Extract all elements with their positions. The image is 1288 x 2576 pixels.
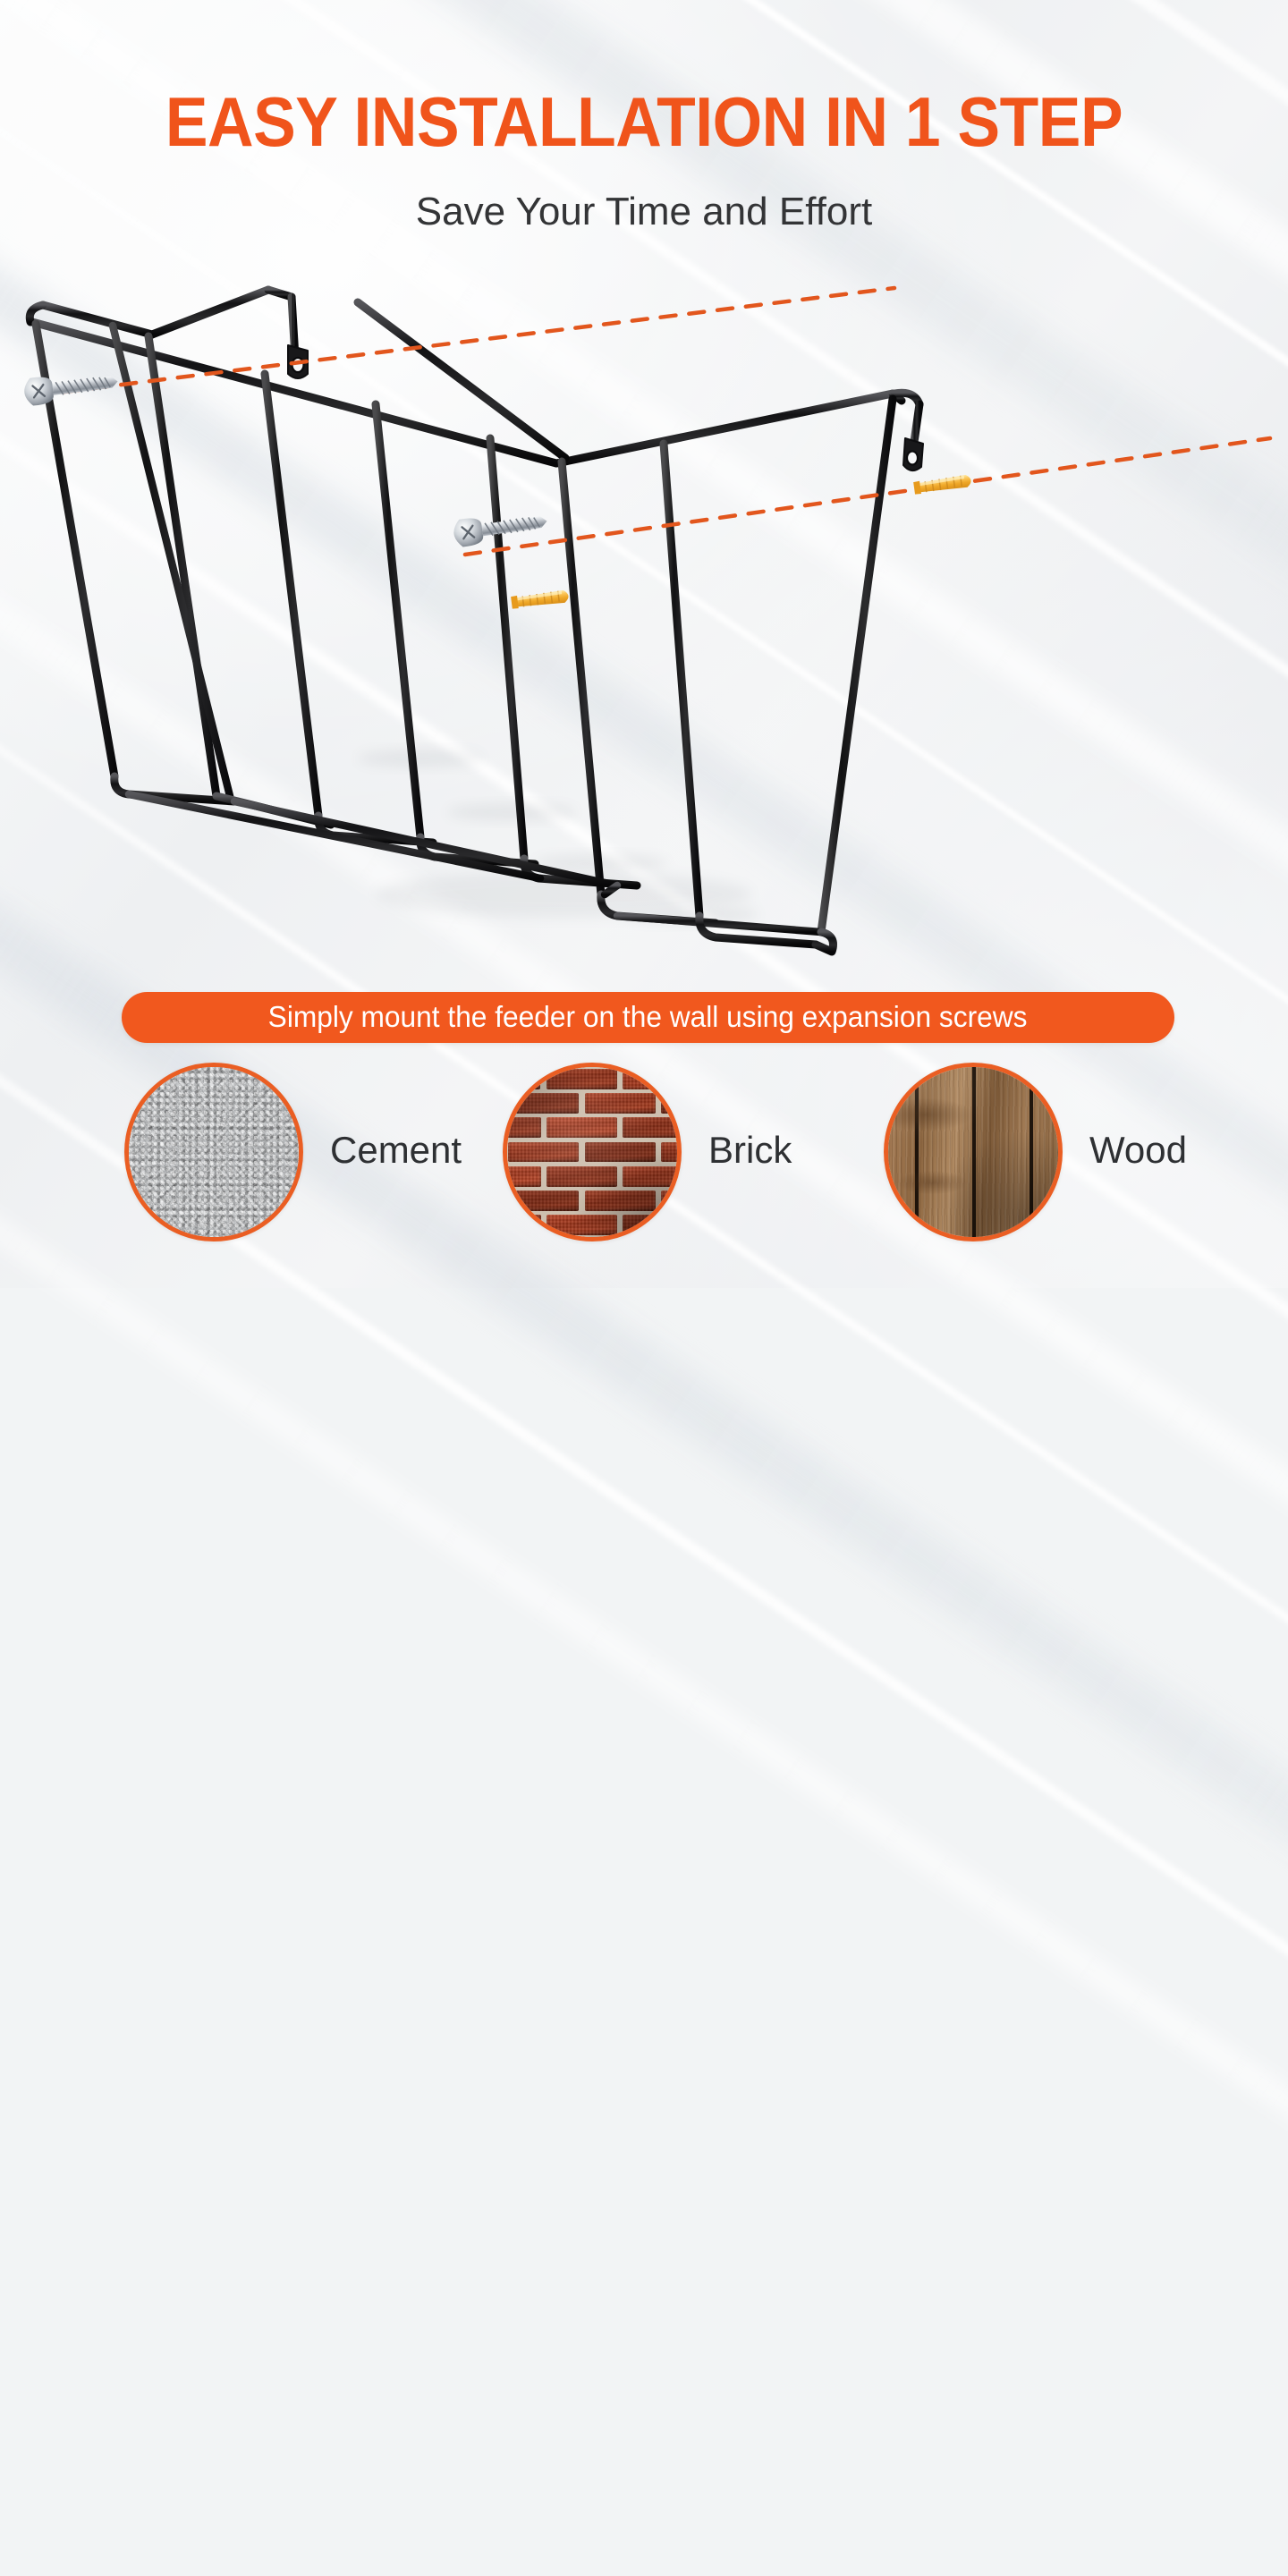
brick-unit [547,1166,617,1187]
page-title: EASY INSTALLATION IN 1 STEP [55,87,1233,157]
brick-unit [508,1191,579,1211]
brick-unit [585,1142,656,1163]
front-top-rail [556,394,893,463]
brick-unit [585,1093,656,1114]
leg-back-2 [148,336,216,796]
anchor-collar [511,596,519,609]
brick-row [503,1067,682,1091]
brick-row [503,1140,682,1164]
wood-texture-swatch [884,1063,1063,1241]
brick-unit [503,1069,540,1089]
brick-row [503,1189,682,1213]
brick-unit [661,1142,682,1163]
brick-unit [503,1117,541,1138]
brick-unit [547,1117,617,1138]
brick-row [503,1213,682,1237]
brick-unit [585,1191,656,1211]
page-subtitle: Save Your Time and Effort [0,191,1288,233]
brick-unit [508,1093,579,1114]
mount-hole-lower [907,452,918,465]
wall-anchor-lower [913,474,971,495]
leg-back-4 [376,404,420,837]
brick-texture-swatch [503,1063,682,1241]
brick-unit [661,1093,682,1114]
wall-anchor-upper [511,589,569,609]
leg-back-5 [490,438,524,859]
leg-front-right-inner [562,462,601,894]
material-chip-cement: Cement [124,1063,462,1241]
brick-row [503,1165,682,1189]
brick-unit [623,1117,682,1138]
material-chip-brick: Brick [503,1063,792,1241]
top-rail-upper-offset [152,290,268,335]
instruction-banner-text: Simply mount the feeder on the wall usin… [268,1002,1028,1033]
brick-unit [547,1215,617,1235]
instruction-banner: Simply mount the feeder on the wall usin… [122,992,1174,1043]
brick-row [503,1091,682,1115]
brick-unit [623,1166,682,1187]
brick-unit [508,1142,579,1163]
material-label: Brick [708,1131,792,1173]
leg-back-3 [265,374,318,816]
leg-front-right-outer [821,399,893,932]
brick-row [503,1115,682,1140]
back-diagonal-strut [113,326,231,800]
cement-texture-swatch [124,1063,303,1241]
brick-unit [661,1191,682,1211]
brick-unit [623,1069,682,1089]
material-label: Cement [330,1131,462,1173]
material-label: Wood [1089,1131,1187,1173]
brick-unit [623,1215,682,1235]
product-illustration [0,268,1288,984]
wire-frame [30,290,923,952]
material-chip-wood: Wood [884,1063,1187,1241]
brick-unit [503,1166,541,1187]
brick-unit [503,1215,541,1235]
mounting-screw-upper [22,368,119,407]
brick-unit [547,1069,617,1089]
leg-front-right-mid [664,444,699,916]
